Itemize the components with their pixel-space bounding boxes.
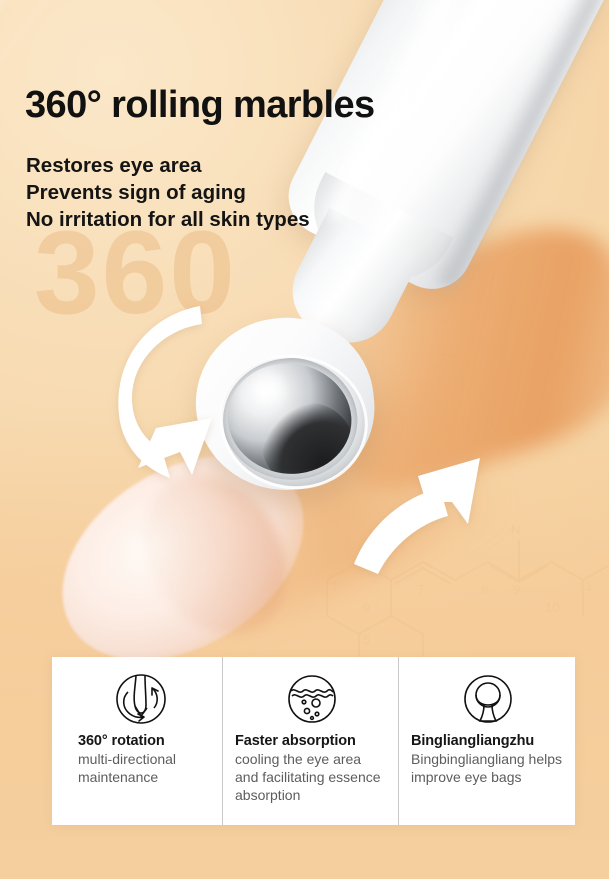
roller-rotation-icon — [64, 671, 212, 727]
svg-text:9: 9 — [513, 582, 520, 597]
rotation-arrow-left-icon — [104, 300, 244, 485]
feature-panel: 360° rotation multi-directional maintena… — [52, 657, 575, 825]
feature-description: cooling the eye area and facilitating es… — [235, 751, 388, 804]
svg-text:10: 10 — [545, 600, 559, 615]
svg-text:11: 11 — [579, 578, 593, 593]
feature-description: multi-directional maintenance — [64, 751, 212, 786]
feature-column-eye-bags: Bingliangliangzhu Bingbingliangliang hel… — [398, 657, 575, 825]
feature-title: Bingliangliangzhu — [411, 733, 565, 750]
page-title: 360° rolling marbles — [25, 86, 375, 124]
benefit-list: Restores eye area Prevents sign of aging… — [26, 152, 310, 233]
feature-description: Bingbingliangliang helps improve eye bag… — [411, 751, 565, 786]
benefit-item-1: Restores eye area — [26, 152, 310, 179]
feature-column-rotation: 360° rotation multi-directional maintena… — [52, 657, 222, 825]
benefit-item-3: No irritation for all skin types — [26, 206, 310, 233]
svg-text:9: 9 — [363, 600, 370, 615]
roller-ball-icon — [411, 671, 565, 727]
rotation-arrow-right-icon — [348, 436, 498, 586]
product-marketing-image: 360 1 9 5 4 7 8 9 10 11 N — [0, 0, 609, 879]
benefit-item-2: Prevents sign of aging — [26, 179, 310, 206]
svg-text:5: 5 — [363, 632, 370, 647]
feature-title: Faster absorption — [235, 733, 388, 750]
svg-text:N: N — [511, 522, 520, 537]
water-absorption-icon — [235, 671, 388, 727]
feature-column-absorption: Faster absorption cooling the eye area a… — [222, 657, 398, 825]
feature-title: 360° rotation — [64, 733, 212, 750]
